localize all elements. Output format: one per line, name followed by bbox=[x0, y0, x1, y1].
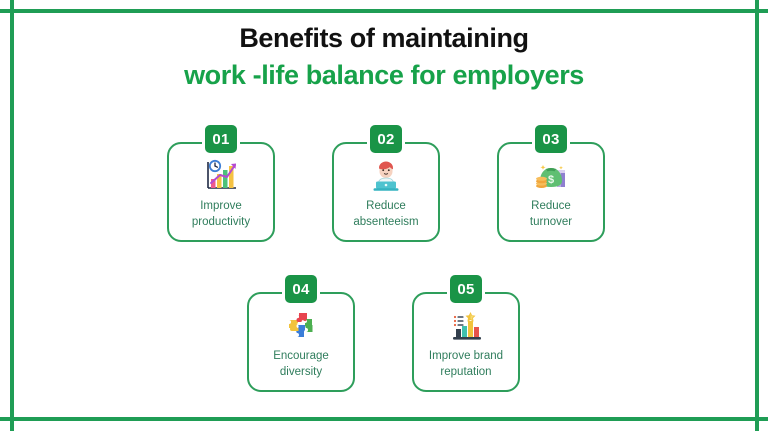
infographic-canvas: Benefits of maintaining work -life balan… bbox=[0, 0, 768, 431]
svg-text:$: $ bbox=[548, 174, 554, 186]
card-number-badge-3: 03 bbox=[532, 122, 570, 156]
benefit-card-label-2: Reduce absenteeism bbox=[337, 198, 435, 231]
puzzle-pieces-icon bbox=[281, 308, 321, 344]
benefit-label-line-2a: Reduce bbox=[366, 200, 406, 212]
benefit-card-4[interactable]: 04 Encourage diversity bbox=[247, 292, 355, 392]
benefit-card-label-5: Improve brand reputation bbox=[417, 348, 515, 381]
benefit-card-label-3: Reduce turnover bbox=[502, 198, 600, 231]
benefit-label-line-5b: reputation bbox=[440, 366, 491, 378]
title-line-primary: Benefits of maintaining bbox=[0, 20, 768, 57]
benefit-label-line-4a: Encourage bbox=[273, 350, 329, 362]
person-at-laptop-icon bbox=[366, 158, 406, 194]
benefit-label-line-1a: Improve bbox=[200, 200, 242, 212]
benefit-card-5[interactable]: 05 Improve brand reputation bbox=[412, 292, 520, 392]
benefit-card-label-1: Improve productivity bbox=[172, 198, 270, 231]
benefit-label-line-3b: turnover bbox=[530, 216, 572, 228]
card-number-badge-4: 04 bbox=[282, 272, 320, 306]
benefit-label-line-5a: Improve brand bbox=[429, 350, 503, 362]
benefit-card-2[interactable]: 02 Reduce absenteeism bbox=[332, 142, 440, 242]
page-title: Benefits of maintaining work -life balan… bbox=[0, 20, 768, 95]
card-number-badge-1: 01 bbox=[202, 122, 240, 156]
benefit-card-3[interactable]: 03 $ Reduce turnover bbox=[497, 142, 605, 242]
money-bag-coins-icon: $ bbox=[531, 158, 571, 194]
benefit-label-line-1b: productivity bbox=[192, 216, 250, 228]
bar-chart-star-rating-icon bbox=[446, 308, 486, 344]
frame-line-top bbox=[0, 9, 768, 13]
card-number-badge-2: 02 bbox=[367, 122, 405, 156]
benefit-label-line-4b: diversity bbox=[280, 366, 322, 378]
benefit-label-line-2b: absenteeism bbox=[353, 216, 418, 228]
bar-chart-clock-growth-icon bbox=[201, 158, 241, 194]
benefit-label-line-3a: Reduce bbox=[531, 200, 571, 212]
frame-line-bottom bbox=[0, 417, 768, 421]
title-line-secondary: work -life balance for employers bbox=[0, 57, 768, 94]
card-number-badge-5: 05 bbox=[447, 272, 485, 306]
benefit-card-1[interactable]: 01 Improve productivity bbox=[167, 142, 275, 242]
benefit-card-label-4: Encourage diversity bbox=[252, 348, 350, 381]
